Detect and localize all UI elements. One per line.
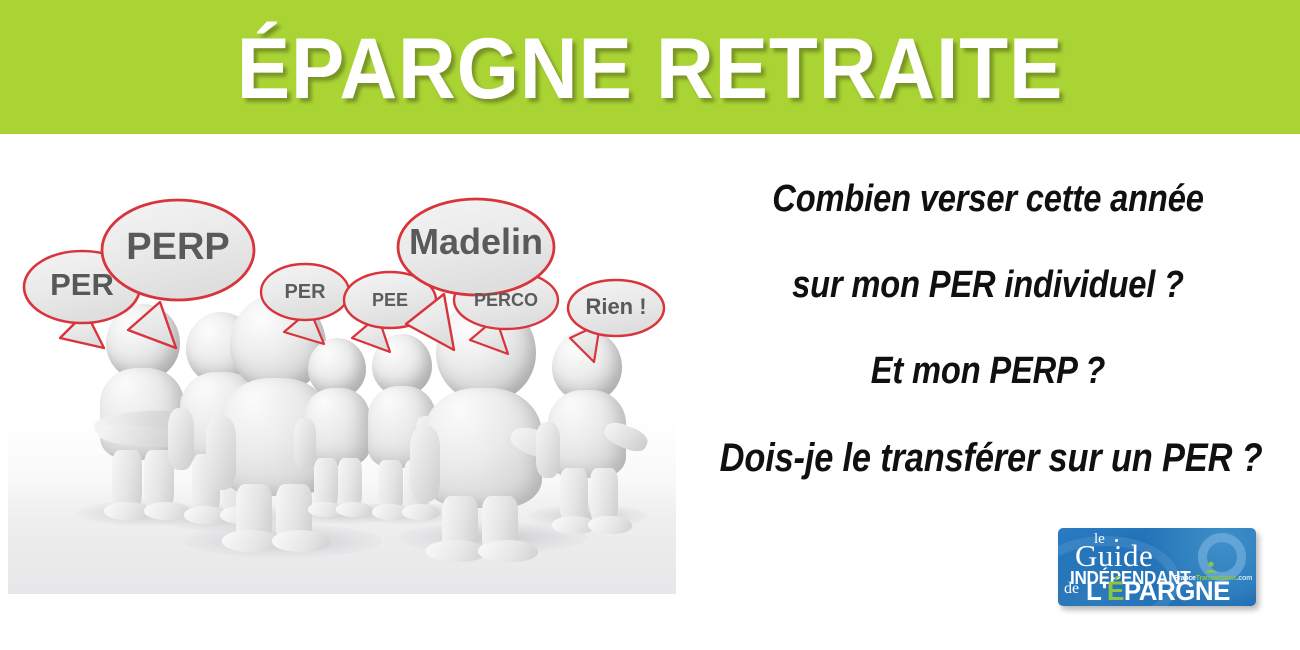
page-title: ÉPARGNE RETRAITE (46, 0, 1255, 134)
bubble-label-perp: PERP (102, 228, 254, 266)
ft-part-domain: .com (1237, 575, 1253, 582)
bubble-label-pee: PEE (346, 291, 434, 309)
francetransactions-text: FranceTransactions.com (1174, 575, 1252, 582)
question-copy-block: Combien verser cette année sur mon PER i… (676, 160, 1300, 520)
bubble-label-madelin: Madelin (398, 224, 554, 260)
header-banner: ÉPARGNE RETRAITE (0, 0, 1300, 134)
ft-part-france: France (1174, 575, 1196, 582)
copy-line-4: Dois-je le transférer sur un PER ? (720, 438, 1257, 478)
logo-epargne-prefix: L' (1086, 576, 1107, 606)
copy-line-2: sur mon PER individuel ? (720, 266, 1257, 304)
speech-bubble-per-mid (261, 264, 349, 344)
ft-part-transactions: Transactions (1196, 575, 1237, 582)
logo-guide-text: Guide (1075, 540, 1153, 571)
bubble-label-per-mid: PER (261, 282, 349, 302)
illustration-panel: PER PERP PER PEE Madelin PERCO Rien ! (8, 152, 676, 594)
copy-line-1: Combien verser cette année (720, 180, 1257, 218)
person-icon (1204, 561, 1218, 574)
speech-bubble-rien (568, 280, 664, 362)
logo-epargne-accent: É (1107, 576, 1124, 606)
logo-de-text: de (1064, 581, 1079, 597)
logo-epargne-text: L'ÉPARGNE (1086, 578, 1230, 605)
bubble-label-perco: PERCO (458, 291, 554, 309)
bubble-label-rien: Rien ! (568, 296, 664, 318)
bubble-label-per-left: PER (24, 269, 140, 300)
copy-line-3: Et mon PERP ? (720, 352, 1257, 390)
speech-bubble-layer (8, 152, 676, 594)
brand-logo[interactable]: le Guide INDÉPENDANT de L'ÉPARGNE France… (1058, 528, 1256, 606)
poster-canvas: ÉPARGNE RETRAITE (0, 0, 1300, 650)
